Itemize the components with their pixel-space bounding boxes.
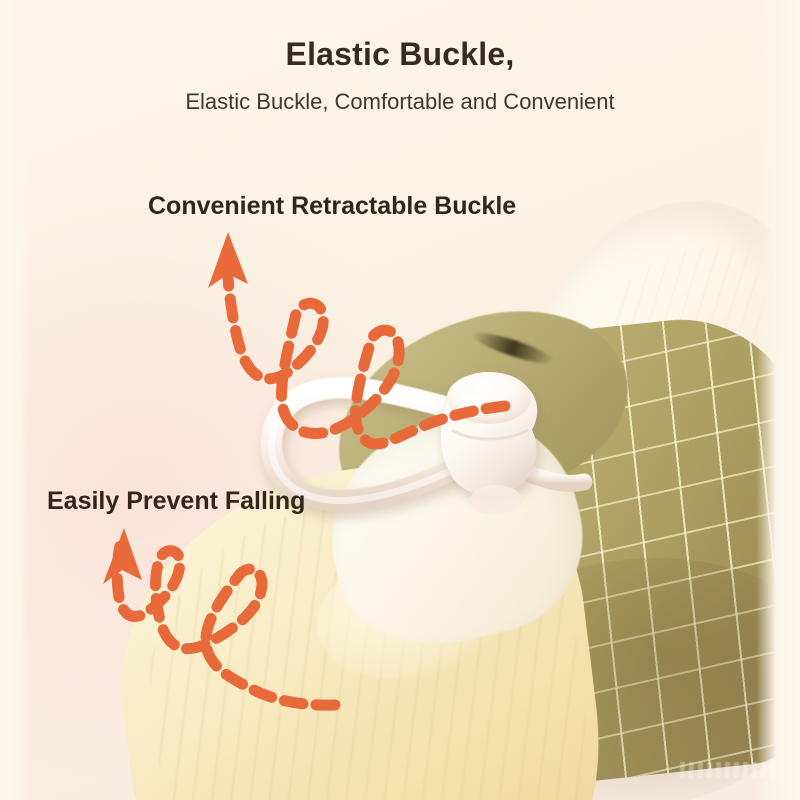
product-infographic: Elastic Buckle, Elastic Buckle, Comforta… xyxy=(0,0,800,800)
annotation-arrows xyxy=(0,0,800,800)
arrow-prevent-falling xyxy=(117,536,335,705)
arrow-retractable-buckle xyxy=(228,278,505,444)
watermark xyxy=(680,762,776,778)
page-title: Elastic Buckle, xyxy=(0,36,800,73)
page-subtitle: Elastic Buckle, Comfortable and Convenie… xyxy=(0,89,800,115)
background-right-edge xyxy=(756,0,800,800)
arrow-head-prevent-falling xyxy=(103,528,142,584)
callout-prevent-falling: Easily Prevent Falling xyxy=(47,487,305,516)
callout-retractable-buckle: Convenient Retractable Buckle xyxy=(148,192,516,221)
